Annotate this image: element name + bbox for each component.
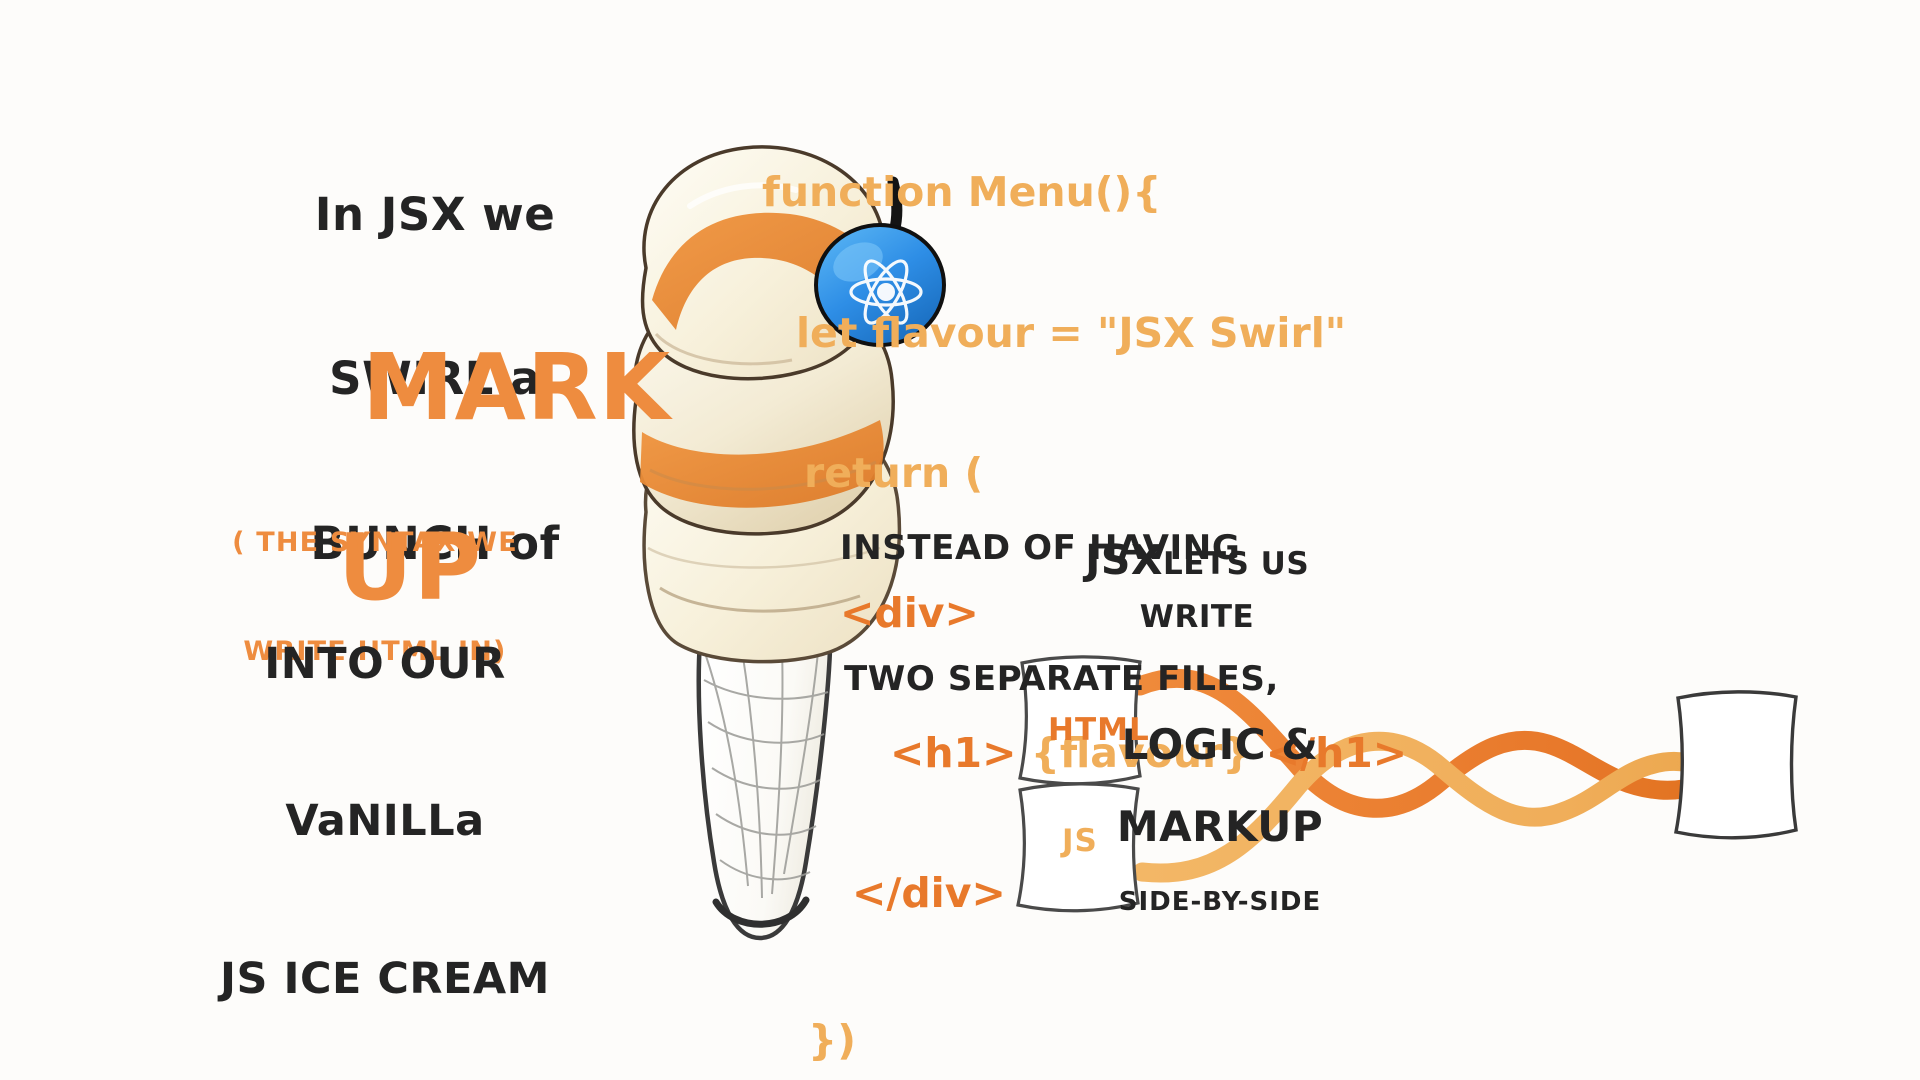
jsx-emphasis: JSX: [1085, 536, 1163, 584]
logic-line-2: MARKUP: [1090, 804, 1350, 850]
file-card-jsx: [1676, 692, 1796, 838]
outro-text: INTO OUR VaNILLa JS ICE CREAM: [215, 533, 555, 1080]
markup-headline-line-1: MARK: [362, 334, 671, 441]
outro-line-3: JS ICE CREAM: [215, 953, 555, 1005]
code-line-0: function Menu(){: [762, 169, 1407, 216]
file-card-html-label: HTML: [1048, 712, 1150, 748]
file-card-js-label: JS: [1062, 823, 1098, 859]
logic-line-3: SIDE-BY-SIDE: [1090, 885, 1350, 917]
illustration-canvas: In JSX we SWIRL a BUNCH of MARK UP ( THE…: [0, 0, 1920, 1080]
code-line-6: }): [762, 1011, 1407, 1064]
jsx-lets-rest: LETS US: [1163, 546, 1309, 582]
intro-line-1: In JSX we: [285, 188, 585, 243]
outro-line-2: VaNILLa: [215, 795, 555, 847]
code-line-1: let flavour = "JSX Swirl": [762, 310, 1407, 357]
jsx-lets-us-write: JSXLETS US WRITE: [1060, 520, 1310, 670]
jsx-lets-line-2: WRITE: [1060, 600, 1310, 634]
outro-line-1: INTO OUR: [215, 638, 555, 690]
